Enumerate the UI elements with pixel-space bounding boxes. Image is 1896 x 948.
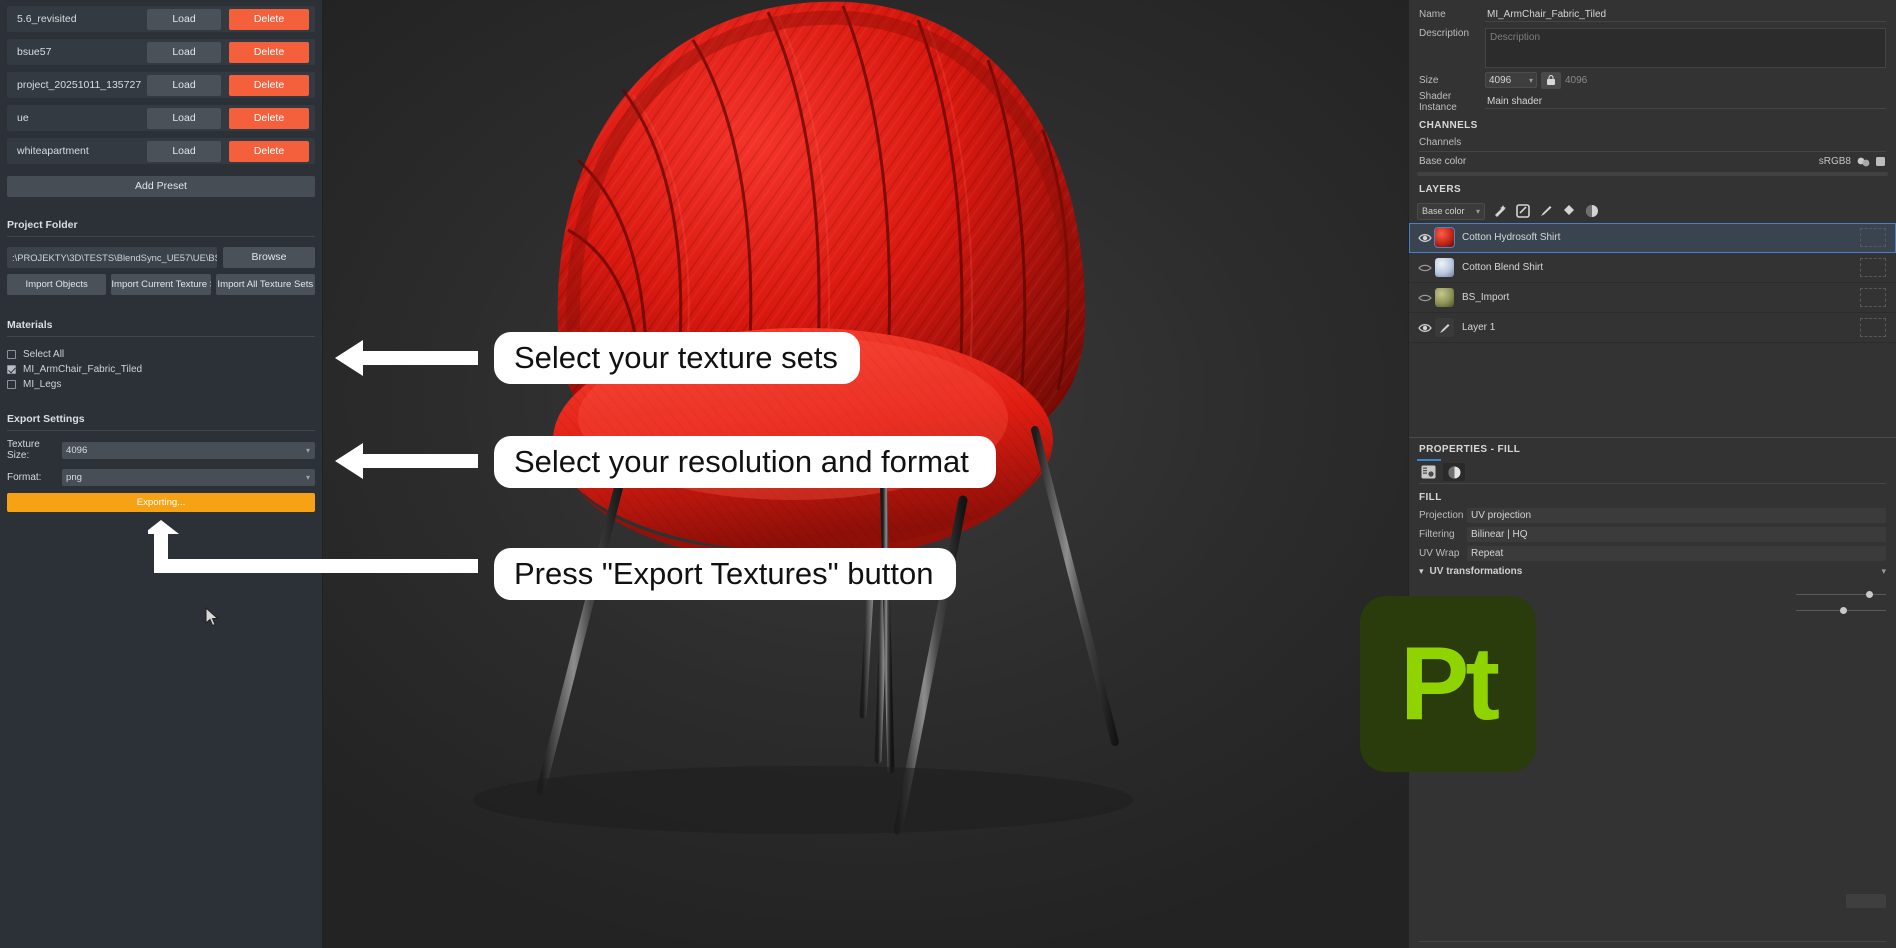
tab-material[interactable] (1443, 463, 1465, 481)
uv-wrap-label: UV Wrap (1419, 548, 1467, 559)
import-current-texture-set-button[interactable]: Import Current Texture Set (111, 274, 210, 295)
texture-size-select[interactable]: 4096 ▾ (62, 442, 315, 459)
layer-name: BS_Import (1462, 292, 1860, 303)
layer-visibility-icon[interactable] (1415, 264, 1435, 272)
fill-heading: FILL (1409, 484, 1896, 506)
blendsync-plugin-panel: 5.6_revisited Load Delete bsue57 Load De… (0, 0, 323, 948)
callout-text: Press "Export Textures" button (514, 556, 933, 592)
callout-press-export: Press "Export Textures" button (494, 548, 956, 600)
chevron-down-icon: ▾ (1529, 76, 1533, 85)
channel-name: Base color (1419, 156, 1819, 167)
projection-value[interactable]: UV projection (1467, 508, 1886, 523)
delete-preset-button[interactable]: Delete (229, 108, 309, 129)
paint-layer-icon (1439, 322, 1451, 334)
properties-tabs (1409, 459, 1896, 481)
properties-heading: PROPERTIES - FILL (1409, 438, 1896, 459)
preset-name: whiteapartment (17, 145, 147, 157)
layer-mask-slot[interactable] (1860, 318, 1886, 337)
channels-subheading-row: Channels (1409, 135, 1896, 153)
preset-name: project_20251011_135727 (17, 79, 147, 91)
shader-instance-value[interactable]: Main shader (1485, 94, 1886, 109)
layer-name: Layer 1 (1462, 322, 1860, 333)
add-preset-button[interactable]: Add Preset (7, 176, 315, 197)
chevron-down-icon: ▾ (1419, 566, 1424, 577)
material-sphere-icon (1447, 465, 1462, 480)
export-textures-button[interactable]: Exporting... (7, 493, 315, 512)
layer-mask-slot[interactable] (1860, 258, 1886, 277)
preset-name: 5.6_revisited (17, 13, 147, 25)
layer-row[interactable]: Cotton Hydrosoft Shirt (1409, 223, 1896, 253)
size-value-secondary: 4096 (1565, 75, 1587, 86)
lock-aspect-icon[interactable] (1541, 72, 1561, 89)
material-label: MI_Legs (23, 379, 61, 390)
layer-visibility-icon[interactable] (1415, 294, 1435, 302)
callout-select-resolution-format: Select your resolution and format (494, 436, 996, 488)
project-folder-row: :\PROJEKTY\3D\TESTS\BlendSync_UE57\UE\BS… (7, 247, 315, 268)
material-checkbox[interactable] (7, 365, 16, 374)
select-all-checkbox[interactable] (7, 350, 16, 359)
layer-visibility-icon[interactable] (1415, 233, 1435, 243)
size-value: 4096 (1489, 75, 1511, 86)
browse-button[interactable]: Browse (223, 247, 315, 268)
uv-transformations-group[interactable]: ▾ UV transformations ▾ (1409, 563, 1896, 580)
callout-arrow-3-elbow (148, 518, 478, 584)
preset-row[interactable]: ue Load Delete (7, 105, 315, 131)
size-label: Size (1419, 75, 1485, 86)
project-folder-heading: Project Folder (7, 219, 315, 237)
chevron-down-icon: ▾ (306, 446, 310, 455)
paint-layer-icon[interactable] (1537, 203, 1554, 220)
fill-projection-row: Projection UV projection (1409, 506, 1896, 525)
channel-layers-icon[interactable] (1857, 156, 1870, 167)
texture-size-label: Texture Size: (7, 439, 62, 461)
chevron-down-icon[interactable]: ▾ (1881, 566, 1886, 577)
layer-name: Cotton Blend Shirt (1462, 262, 1860, 273)
size-select[interactable]: 4096 ▾ (1485, 72, 1537, 88)
texture-size-row: Texture Size: 4096 ▾ (7, 439, 315, 461)
callout-select-texture-sets: Select your texture sets (494, 332, 860, 384)
callout-text: Select your resolution and format (514, 444, 969, 480)
format-label: Format: (7, 472, 62, 483)
layer-row[interactable]: Cotton Blend Shirt (1409, 253, 1896, 283)
load-preset-button[interactable]: Load (147, 9, 221, 30)
layer-mask-slot[interactable] (1860, 228, 1886, 247)
material-checkbox-row[interactable]: MI_Legs (7, 377, 315, 391)
layer-row[interactable]: BS_Import (1409, 283, 1896, 313)
panel-bottom-divider (1419, 941, 1886, 942)
mask-icon[interactable] (1583, 203, 1600, 220)
layer-row[interactable]: Layer 1 (1409, 313, 1896, 343)
logo-text: Pt (1400, 632, 1496, 736)
uv-wrap-value[interactable]: Repeat (1467, 546, 1886, 561)
material-checkbox-row[interactable]: Select All (7, 347, 315, 361)
layers-empty-area[interactable] (1409, 343, 1896, 437)
format-value: png (66, 472, 82, 483)
load-preset-button[interactable]: Load (147, 141, 221, 162)
layer-thumbnail[interactable] (1435, 288, 1454, 307)
lock-icon (1547, 75, 1555, 85)
layer-name: Cotton Hydrosoft Shirt (1462, 232, 1860, 243)
preset-row[interactable]: whiteapartment Load Delete (7, 138, 315, 164)
layer-visibility-icon[interactable] (1415, 323, 1435, 333)
shader-instance-row: Shader Instance Main shader (1409, 92, 1896, 111)
materials-list: Select All MI_ArmChair_Fabric_Tiled MI_L… (7, 347, 315, 391)
format-select[interactable]: png ▾ (62, 469, 315, 486)
fill-filtering-row: Filtering Bilinear | HQ (1409, 525, 1896, 544)
bottom-field[interactable] (1846, 894, 1886, 908)
name-row: Name MI_ArmChair_Fabric_Tiled (1409, 5, 1896, 24)
active-tab-indicator (1417, 459, 1441, 461)
uv-transformations-label: UV transformations (1430, 566, 1523, 577)
texture-size-value: 4096 (66, 445, 87, 456)
material-label: MI_ArmChair_Fabric_Tiled (23, 364, 142, 375)
project-folder-input[interactable]: :\PROJEKTY\3D\TESTS\BlendSync_UE57\UE\BS… (7, 247, 217, 268)
name-label: Name (1419, 9, 1485, 20)
preset-row[interactable]: bsue57 Load Delete (7, 39, 315, 65)
layer-thumbnail[interactable] (1435, 228, 1454, 247)
tab-properties[interactable] (1417, 463, 1439, 481)
description-input[interactable]: Description (1485, 28, 1886, 68)
format-row: Format: png ▾ (7, 469, 315, 486)
layers-heading: LAYERS (1409, 176, 1896, 199)
filtering-label: Filtering (1419, 529, 1467, 540)
preset-row[interactable]: 5.6_revisited Load Delete (7, 6, 315, 32)
mouse-cursor (205, 607, 219, 627)
shader-instance-label: Shader Instance (1419, 91, 1485, 113)
import-objects-button[interactable]: Import Objects (7, 274, 106, 295)
callout-text: Select your texture sets (514, 340, 838, 376)
name-value[interactable]: MI_ArmChair_Fabric_Tiled (1485, 7, 1886, 22)
layer-mask-slot[interactable] (1860, 288, 1886, 307)
import-buttons-row: Import Objects Import Current Texture Se… (7, 274, 315, 295)
delete-preset-button[interactable]: Delete (229, 42, 309, 63)
fill-layer-icon[interactable] (1560, 203, 1577, 220)
load-preset-button[interactable]: Load (147, 108, 221, 129)
material-checkbox-row[interactable]: MI_ArmChair_Fabric_Tiled (7, 362, 315, 376)
properties-icon (1421, 465, 1436, 479)
size-row: Size 4096 ▾ 4096 (1409, 68, 1896, 92)
load-preset-button[interactable]: Load (147, 75, 221, 96)
channel-row-base-color[interactable]: Base color sRGB8 (1409, 153, 1896, 169)
layer-thumbnail[interactable] (1435, 318, 1454, 337)
delete-preset-button[interactable]: Delete (229, 141, 309, 162)
material-label: Select All (23, 349, 64, 360)
chevron-down-icon: ▾ (1476, 207, 1480, 216)
export-settings-heading: Export Settings (7, 413, 315, 431)
substance-painter-right-panel: Name MI_ArmChair_Fabric_Tiled Descriptio… (1408, 0, 1896, 948)
channels-heading: CHANNELS (1409, 111, 1896, 135)
add-fill-layer-icon[interactable] (1514, 203, 1531, 220)
load-preset-button[interactable]: Load (147, 42, 221, 63)
texture-set-settings: Name MI_ArmChair_Fabric_Tiled Descriptio… (1409, 0, 1896, 111)
filtering-value[interactable]: Bilinear | HQ (1467, 527, 1886, 542)
description-row: Description Description (1409, 24, 1896, 68)
preset-name: bsue57 (17, 46, 147, 58)
preset-name: ue (17, 112, 147, 124)
projection-label: Projection (1419, 510, 1467, 521)
delete-preset-button[interactable]: Delete (229, 75, 309, 96)
fill-uvwrap-row: UV Wrap Repeat (1409, 544, 1896, 563)
substance-painter-logo: Pt (1360, 596, 1536, 772)
materials-heading: Materials (7, 319, 315, 337)
channel-colorspace: sRGB8 (1819, 156, 1851, 167)
layer-thumbnail[interactable] (1435, 258, 1454, 277)
preset-row[interactable]: project_20251011_135727 Load Delete (7, 72, 315, 98)
callout-arrow-2 (333, 440, 478, 482)
import-all-texture-sets-button[interactable]: Import All Texture Sets (216, 274, 315, 295)
layers-channel-select[interactable]: Base color ▾ (1417, 203, 1485, 220)
callout-arrow-1 (333, 337, 478, 379)
description-label: Description (1419, 28, 1485, 39)
layers-toolbar: Base color ▾ (1409, 199, 1896, 223)
material-checkbox[interactable] (7, 380, 16, 389)
magic-wand-icon[interactable] (1491, 203, 1508, 220)
channels-subheading: Channels (1419, 137, 1886, 152)
channel-settings-icon[interactable] (1875, 156, 1886, 167)
preset-list: 5.6_revisited Load Delete bsue57 Load De… (0, 0, 322, 164)
layers-channel-value: Base color (1422, 206, 1465, 216)
chevron-down-icon: ▾ (306, 473, 310, 482)
delete-preset-button[interactable]: Delete (229, 9, 309, 30)
